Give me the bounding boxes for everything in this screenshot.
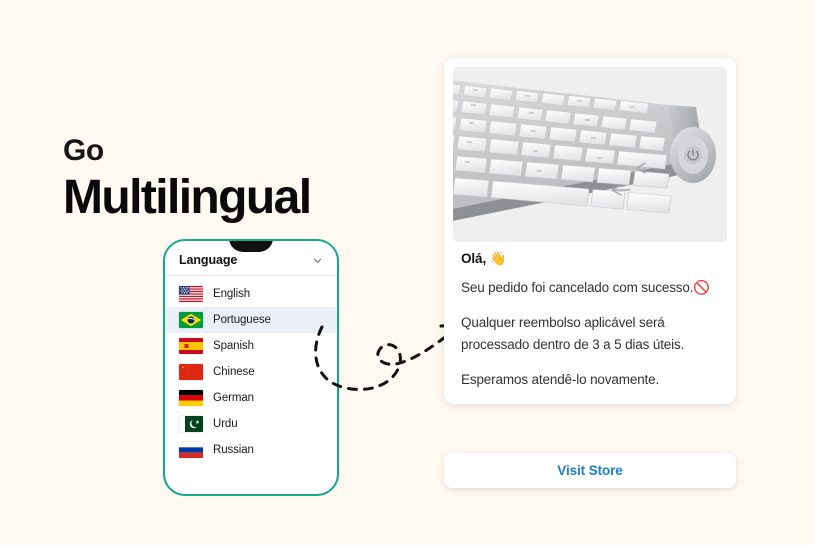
list-item-label: Chinese: [213, 366, 255, 378]
language-list: English Portuguese Spanis: [165, 276, 337, 463]
ru-flag-icon: [179, 442, 203, 458]
list-item-label: Russian: [213, 444, 254, 456]
br-flag-icon: [179, 312, 203, 328]
list-item[interactable]: Chinese: [165, 359, 337, 385]
message-card: Olá, 👋 Seu pedido foi cancelado com suce…: [444, 58, 736, 404]
list-item-label: Urdu: [213, 418, 238, 430]
message-paragraph: Qualquer reembolso aplicável será proces…: [461, 312, 719, 356]
message-body: Olá, 👋 Seu pedido foi cancelado com suce…: [453, 242, 727, 390]
list-item[interactable]: Spanish: [165, 333, 337, 359]
us-flag-icon: [179, 286, 203, 302]
visit-store-button[interactable]: Visit Store: [444, 453, 736, 488]
message-paragraph: Seu pedido foi cancelado com sucesso.🚫: [461, 277, 719, 299]
language-dropdown-label: Language: [179, 253, 237, 267]
headline-line-1: Go: [63, 136, 310, 166]
keyboard-photo: [453, 67, 727, 242]
list-item[interactable]: Urdu: [165, 411, 337, 437]
list-item[interactable]: English: [165, 281, 337, 307]
message-greeting: Olá, 👋: [461, 251, 719, 267]
language-phone-panel: Language: [163, 239, 339, 496]
headline-line-2: Multilingual: [63, 174, 310, 222]
pk-flag-icon: [179, 416, 203, 432]
list-item-label: Portuguese: [213, 314, 271, 326]
es-flag-icon: [179, 338, 203, 354]
list-item-label: German: [213, 392, 254, 404]
message-paragraph: Esperamos atendê-lo novamente.: [461, 369, 719, 391]
list-item[interactable]: Portuguese: [165, 307, 337, 333]
list-item[interactable]: Russian: [165, 437, 337, 463]
list-item[interactable]: German: [165, 385, 337, 411]
list-item-label: English: [213, 288, 250, 300]
list-item-label: Spanish: [213, 340, 254, 352]
headline-block: Go Multilingual: [63, 136, 310, 222]
chevron-down-icon[interactable]: [312, 255, 323, 266]
de-flag-icon: [179, 390, 203, 406]
cn-flag-icon: [179, 364, 203, 380]
visit-store-label: Visit Store: [557, 463, 622, 478]
